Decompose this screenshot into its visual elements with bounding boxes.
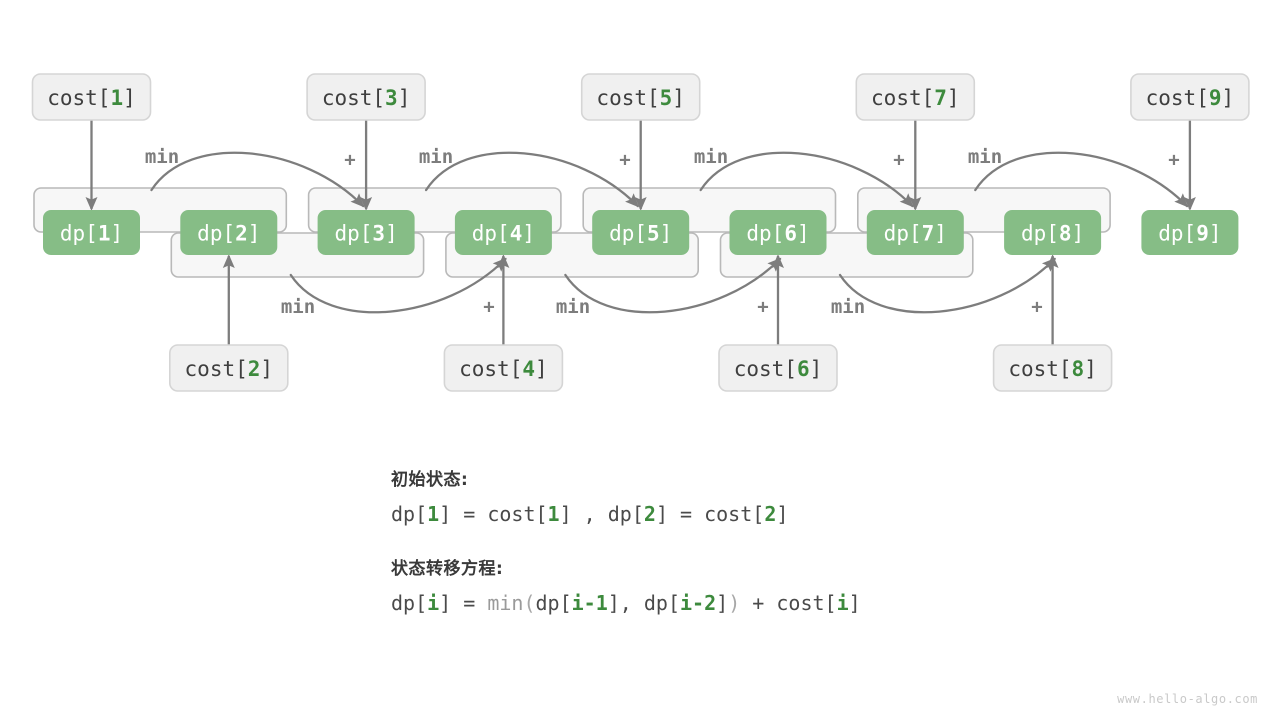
- tr-t3: dp[: [536, 591, 572, 615]
- op-label-bottom-4: min: [831, 296, 865, 318]
- transition-heading: 状态转移方程:: [391, 554, 1091, 579]
- tr-i3: i-2: [680, 591, 716, 615]
- tr-t6: + cost[: [740, 591, 836, 615]
- tr-t7: ]: [849, 591, 861, 615]
- dp-label-5: dp[5]: [609, 222, 672, 246]
- transition-formula: dp[i] = min(dp[i-1], dp[i-2]) + cost[i]: [391, 591, 1091, 615]
- dp-box-group: dp[1]dp[2]dp[3]dp[4]dp[5]dp[6]dp[7]dp[8]…: [43, 210, 1238, 255]
- watermark: www.hello-algo.com: [1117, 692, 1258, 706]
- bracket-group-bottom: [171, 233, 973, 277]
- cost-label-1: cost[1]: [47, 86, 136, 110]
- formula-block: 初始状态: dp[1] = cost[1] , dp[2] = cost[2] …: [391, 465, 1091, 615]
- dp-label-7: dp[7]: [884, 222, 947, 246]
- op-label-bottom-3: +: [757, 296, 768, 318]
- initial-state-heading: 初始状态:: [391, 465, 1091, 490]
- init-t5: ]: [776, 502, 788, 526]
- cost-label-4: cost[4]: [459, 357, 548, 381]
- init-i1: 1: [427, 502, 439, 526]
- dp-label-4: dp[4]: [472, 222, 535, 246]
- cost-label-2: cost[2]: [185, 357, 274, 381]
- dp-label-6: dp[6]: [746, 222, 809, 246]
- dp-label-1: dp[1]: [60, 222, 123, 246]
- tr-t5: ]: [716, 591, 728, 615]
- op-label-bottom-2: min: [556, 296, 590, 318]
- op-label-top-5: +: [893, 149, 904, 171]
- op-label-bottom-1: +: [483, 296, 494, 318]
- init-t3: ] , dp[: [560, 502, 644, 526]
- cost-label-5: cost[5]: [596, 86, 685, 110]
- dp-label-2: dp[2]: [197, 222, 260, 246]
- tr-i1: i: [427, 591, 439, 615]
- op-label-top-0: min: [145, 146, 179, 168]
- tr-fn: min: [487, 591, 523, 615]
- dp-label-9: dp[9]: [1158, 222, 1221, 246]
- cost-label-9: cost[9]: [1146, 86, 1235, 110]
- op-label-top-3: +: [619, 149, 630, 171]
- init-t2: ] = cost[: [439, 502, 547, 526]
- cost-label-8: cost[8]: [1008, 357, 1097, 381]
- cost-label-7: cost[7]: [871, 86, 960, 110]
- tr-t2: ] =: [439, 591, 487, 615]
- op-label-top-2: min: [419, 146, 453, 168]
- op-label-top-4: min: [694, 146, 728, 168]
- init-t4: ] = cost[: [656, 502, 764, 526]
- op-label-bottom-5: +: [1031, 296, 1042, 318]
- tr-t1: dp[: [391, 591, 427, 615]
- init-i3: 2: [644, 502, 656, 526]
- init-t1: dp[: [391, 502, 427, 526]
- dp-label-3: dp[3]: [334, 222, 397, 246]
- cost-label-6: cost[6]: [734, 357, 823, 381]
- op-label-top-1: +: [344, 149, 355, 171]
- op-label-top-7: +: [1168, 149, 1179, 171]
- cost-box-group-bottom: cost[2]cost[4]cost[6]cost[8]: [170, 345, 1112, 391]
- cost-label-3: cost[3]: [322, 86, 411, 110]
- initial-state-formula: dp[1] = cost[1] , dp[2] = cost[2]: [391, 502, 1091, 526]
- dp-label-8: dp[8]: [1021, 222, 1084, 246]
- op-label-bottom-0: min: [281, 296, 315, 318]
- tr-p1: (: [523, 591, 535, 615]
- tr-p2: ): [728, 591, 740, 615]
- tr-i2: i-1: [572, 591, 608, 615]
- init-i2: 1: [548, 502, 560, 526]
- tr-t4: ], dp[: [608, 591, 680, 615]
- diagram-canvas: cost[1]cost[3]cost[5]cost[7]cost[9] cost…: [0, 0, 1280, 720]
- init-i4: 2: [764, 502, 776, 526]
- op-label-top-6: min: [968, 146, 1002, 168]
- cost-box-group-top: cost[1]cost[3]cost[5]cost[7]cost[9]: [33, 74, 1249, 120]
- tr-i4: i: [837, 591, 849, 615]
